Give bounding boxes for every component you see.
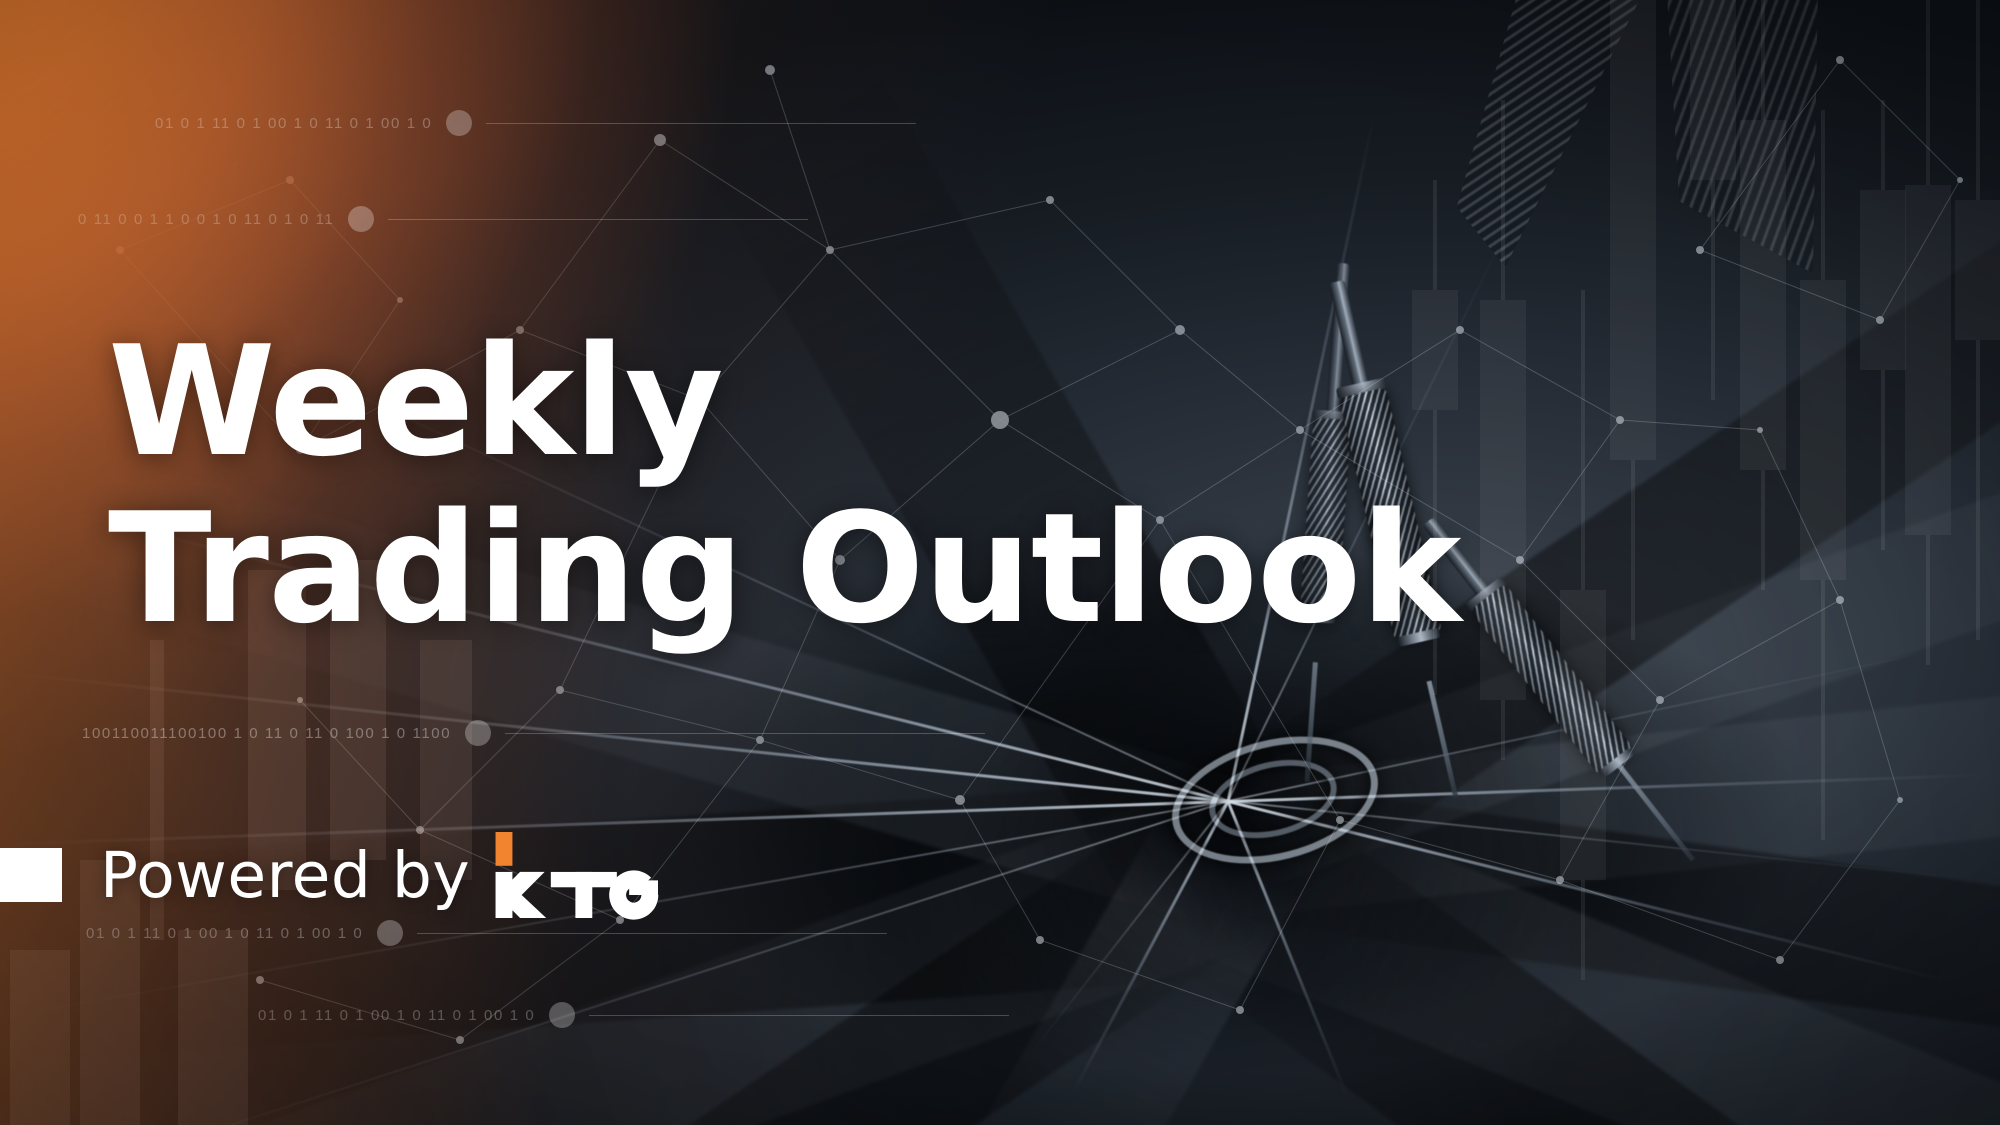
- page-title: Weekly Trading Outlook: [108, 324, 1460, 646]
- banner-canvas: 01 0 1 11 0 1 00 1 0 11 0 1 00 1 00 11 0…: [0, 0, 2000, 1125]
- title-line-1: Weekly: [108, 313, 723, 490]
- title-line-2: Trading Outlook: [108, 491, 1460, 646]
- banner-content: Weekly Trading Outlook Powered by: [0, 0, 2000, 1125]
- brand-lockup: Powered by: [0, 832, 725, 918]
- ktg-logo: [494, 832, 724, 918]
- powered-by-label: Powered by: [100, 844, 470, 907]
- logo-orange-accent: [496, 832, 513, 866]
- accent-bar: [0, 848, 62, 902]
